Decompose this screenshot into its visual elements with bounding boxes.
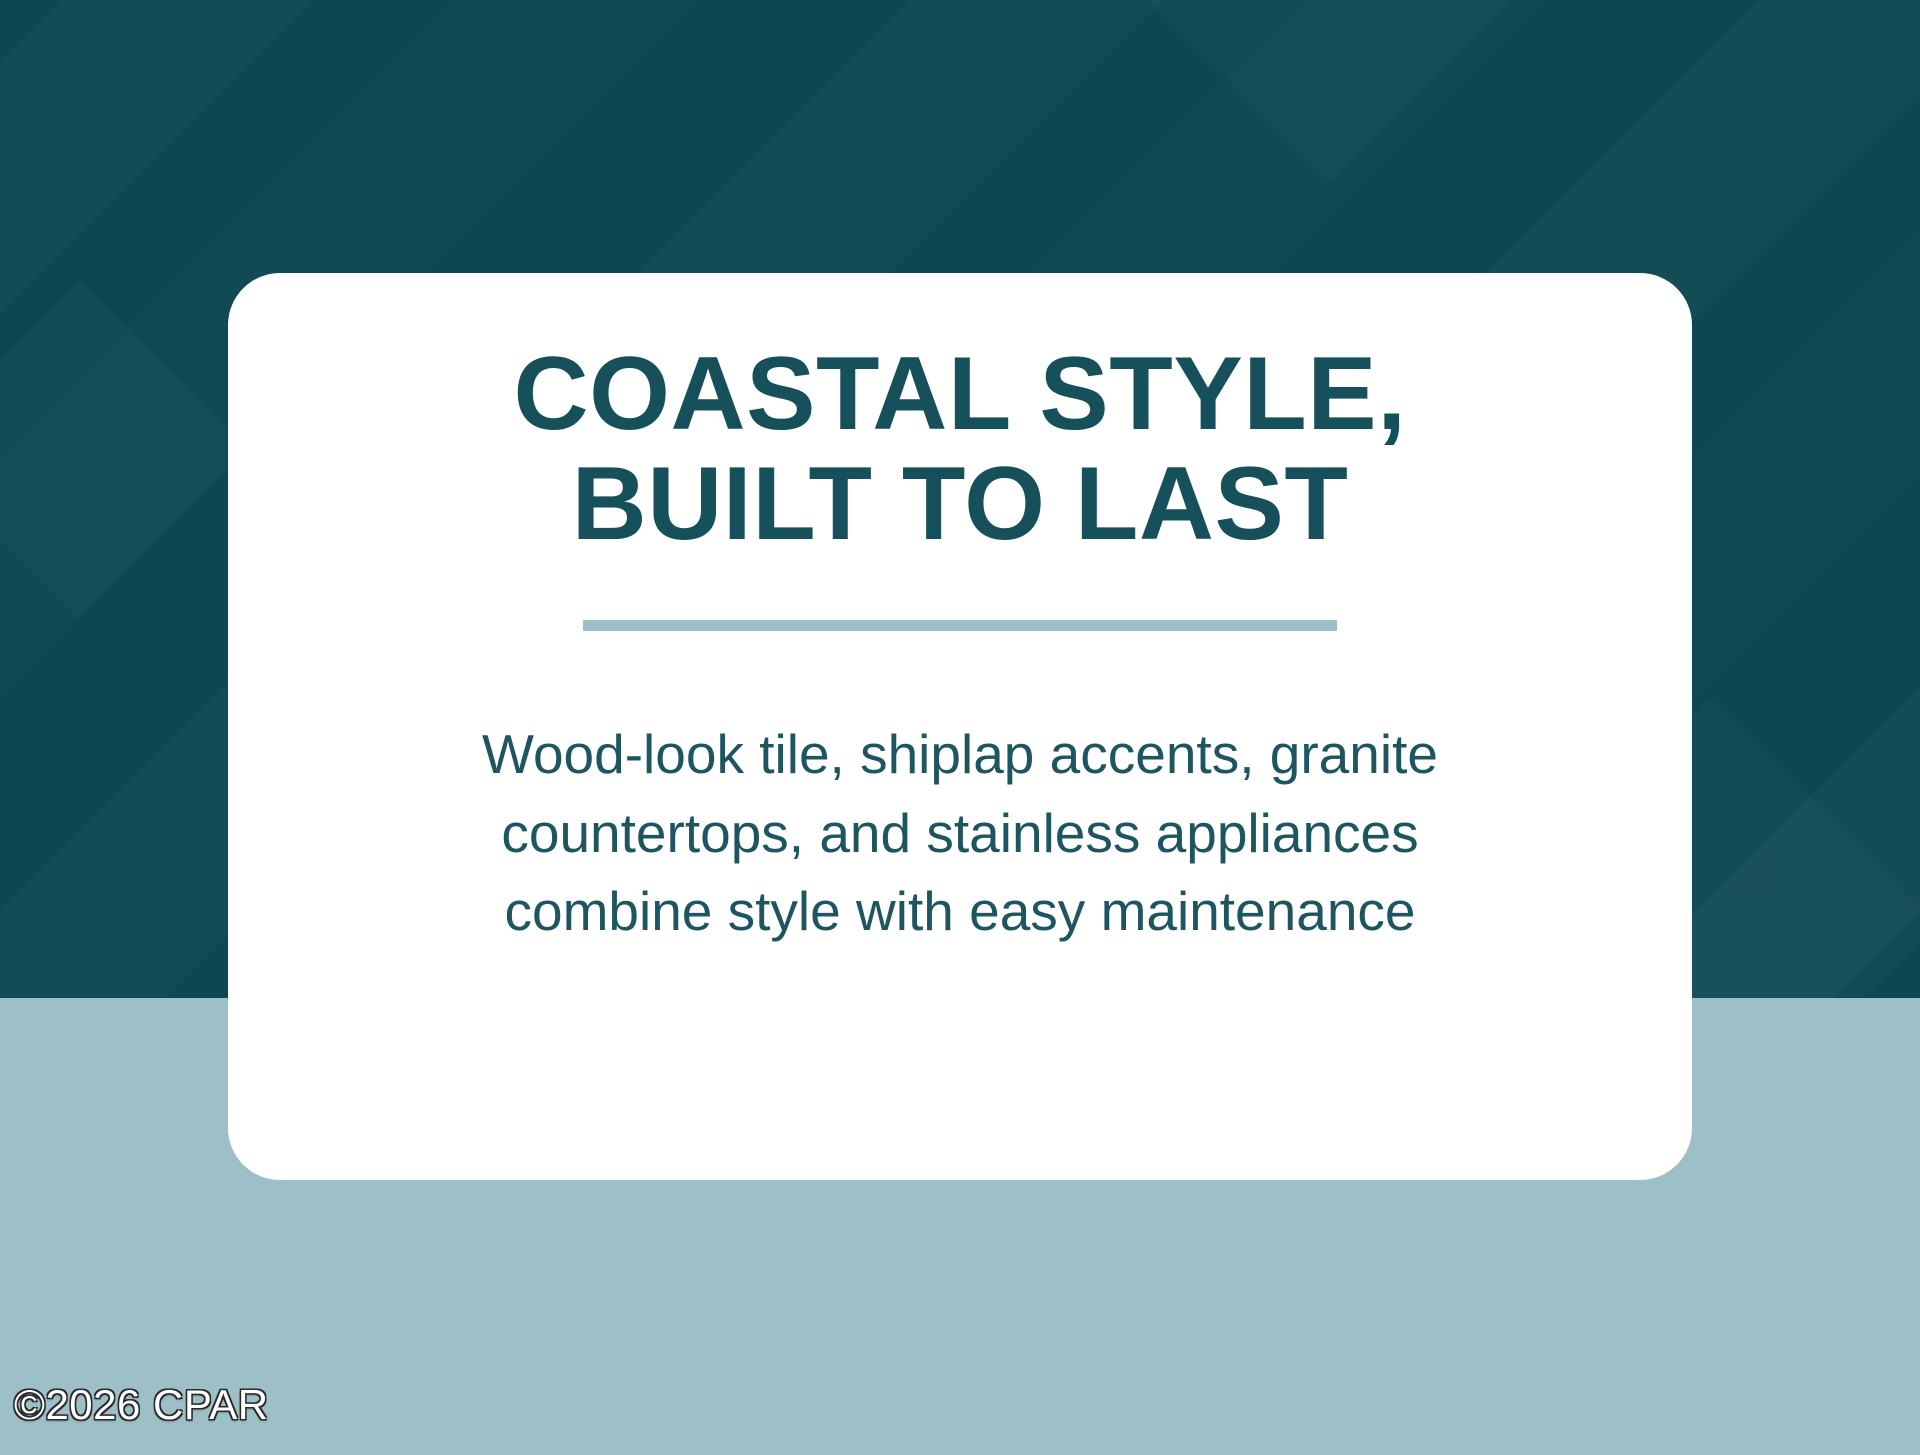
divider-rule [583, 620, 1337, 631]
page-title-line-2: BUILT TO LAST [300, 449, 1620, 559]
body-description-line-2: countertops, and stainless appliances [482, 794, 1438, 872]
slide-root: COASTAL STYLE, BUILT TO LAST Wood-look t… [0, 0, 1920, 1455]
content-card: COASTAL STYLE, BUILT TO LAST Wood-look t… [228, 273, 1692, 1180]
body-description-line-3: combine style with easy maintenance [482, 872, 1438, 950]
chevron-shape-top-right [1118, 0, 1542, 182]
body-description: Wood-look tile, shiplap accents, granite… [482, 715, 1438, 949]
body-description-line-1: Wood-look tile, shiplap accents, granite [482, 715, 1438, 793]
page-title-line-1: COASTAL STYLE, [300, 339, 1620, 449]
copyright-notice: ©2026 CPAR [14, 1381, 269, 1429]
page-title: COASTAL STYLE, BUILT TO LAST [300, 339, 1620, 559]
chevron-shape-left [0, 280, 250, 619]
